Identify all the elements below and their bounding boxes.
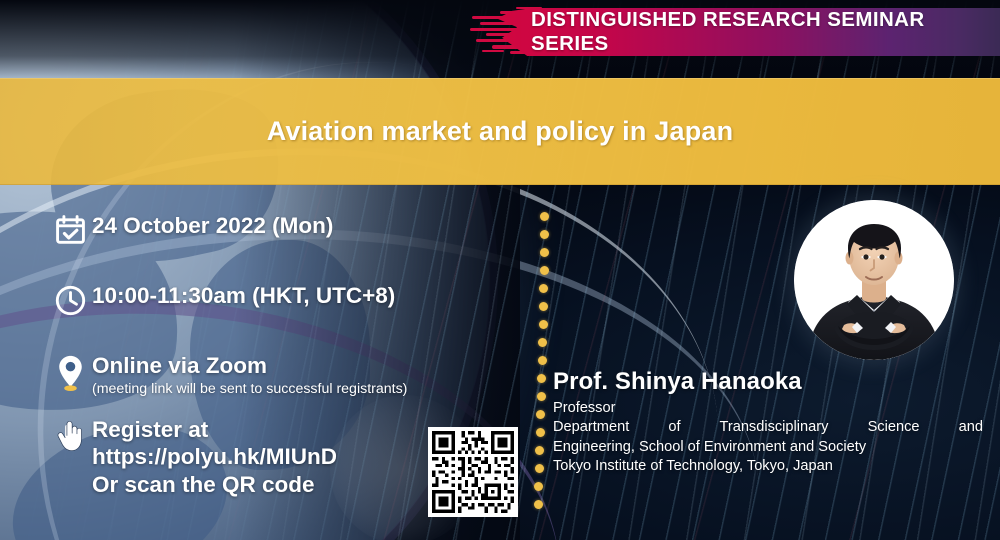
registration-qr-code[interactable] bbox=[428, 427, 518, 517]
event-date: 24 October 2022 (Mon) bbox=[92, 212, 333, 239]
register-url[interactable]: https://polyu.hk/MIUnD bbox=[92, 443, 337, 470]
speaker-name: Prof. Shinya Hanaoka bbox=[553, 368, 983, 396]
speaker-affiliation: Department of Transdisciplinary Science … bbox=[553, 418, 983, 476]
register-qr-hint: Or scan the QR code bbox=[92, 471, 337, 498]
detail-body-date: 24 October 2022 (Mon) bbox=[92, 212, 333, 239]
event-venue-note: (meeting link will be sent to successful… bbox=[92, 380, 407, 398]
calendar-check-icon bbox=[48, 212, 92, 247]
detail-row-register: Register at https://polyu.hk/MIUnD Or sc… bbox=[48, 416, 337, 498]
map-pin-icon bbox=[48, 352, 92, 392]
speaker-block: Prof. Shinya Hanaoka Professor Departmen… bbox=[553, 368, 983, 476]
speaker-affiliation-line-1: Department of Transdisciplinary Science … bbox=[553, 418, 983, 437]
clock-icon bbox=[48, 282, 92, 317]
speaker-affiliation-line-3: Tokyo Institute of Technology, Tokyo, Ja… bbox=[553, 457, 983, 476]
register-label: Register at bbox=[92, 416, 337, 443]
detail-body-time: 10:00-11:30am (HKT, UTC+8) bbox=[92, 282, 395, 309]
speaker-title: Professor bbox=[553, 399, 983, 418]
event-time: 10:00-11:30am (HKT, UTC+8) bbox=[92, 282, 395, 309]
detail-row-time: 10:00-11:30am (HKT, UTC+8) bbox=[48, 282, 395, 317]
speaker-portrait bbox=[794, 200, 954, 360]
event-venue: Online via Zoom bbox=[92, 352, 407, 379]
seminar-poster: DISTINGUISHED RESEARCH SEMINAR SERIES Av… bbox=[0, 0, 1000, 540]
dotted-divider bbox=[531, 212, 553, 507]
detail-row-venue: Online via Zoom (meeting link will be se… bbox=[48, 352, 407, 399]
page-title: Aviation market and policy in Japan bbox=[0, 78, 1000, 185]
detail-body-register: Register at https://polyu.hk/MIUnD Or sc… bbox=[92, 416, 337, 498]
speaker-affiliation-line-2: Engineering, School of Environment and S… bbox=[553, 438, 983, 457]
detail-body-venue: Online via Zoom (meeting link will be se… bbox=[92, 352, 407, 399]
seminar-series-banner-text: DISTINGUISHED RESEARCH SEMINAR SERIES bbox=[497, 8, 1000, 56]
pointing-hand-icon bbox=[48, 416, 92, 454]
detail-row-date: 24 October 2022 (Mon) bbox=[48, 212, 333, 247]
